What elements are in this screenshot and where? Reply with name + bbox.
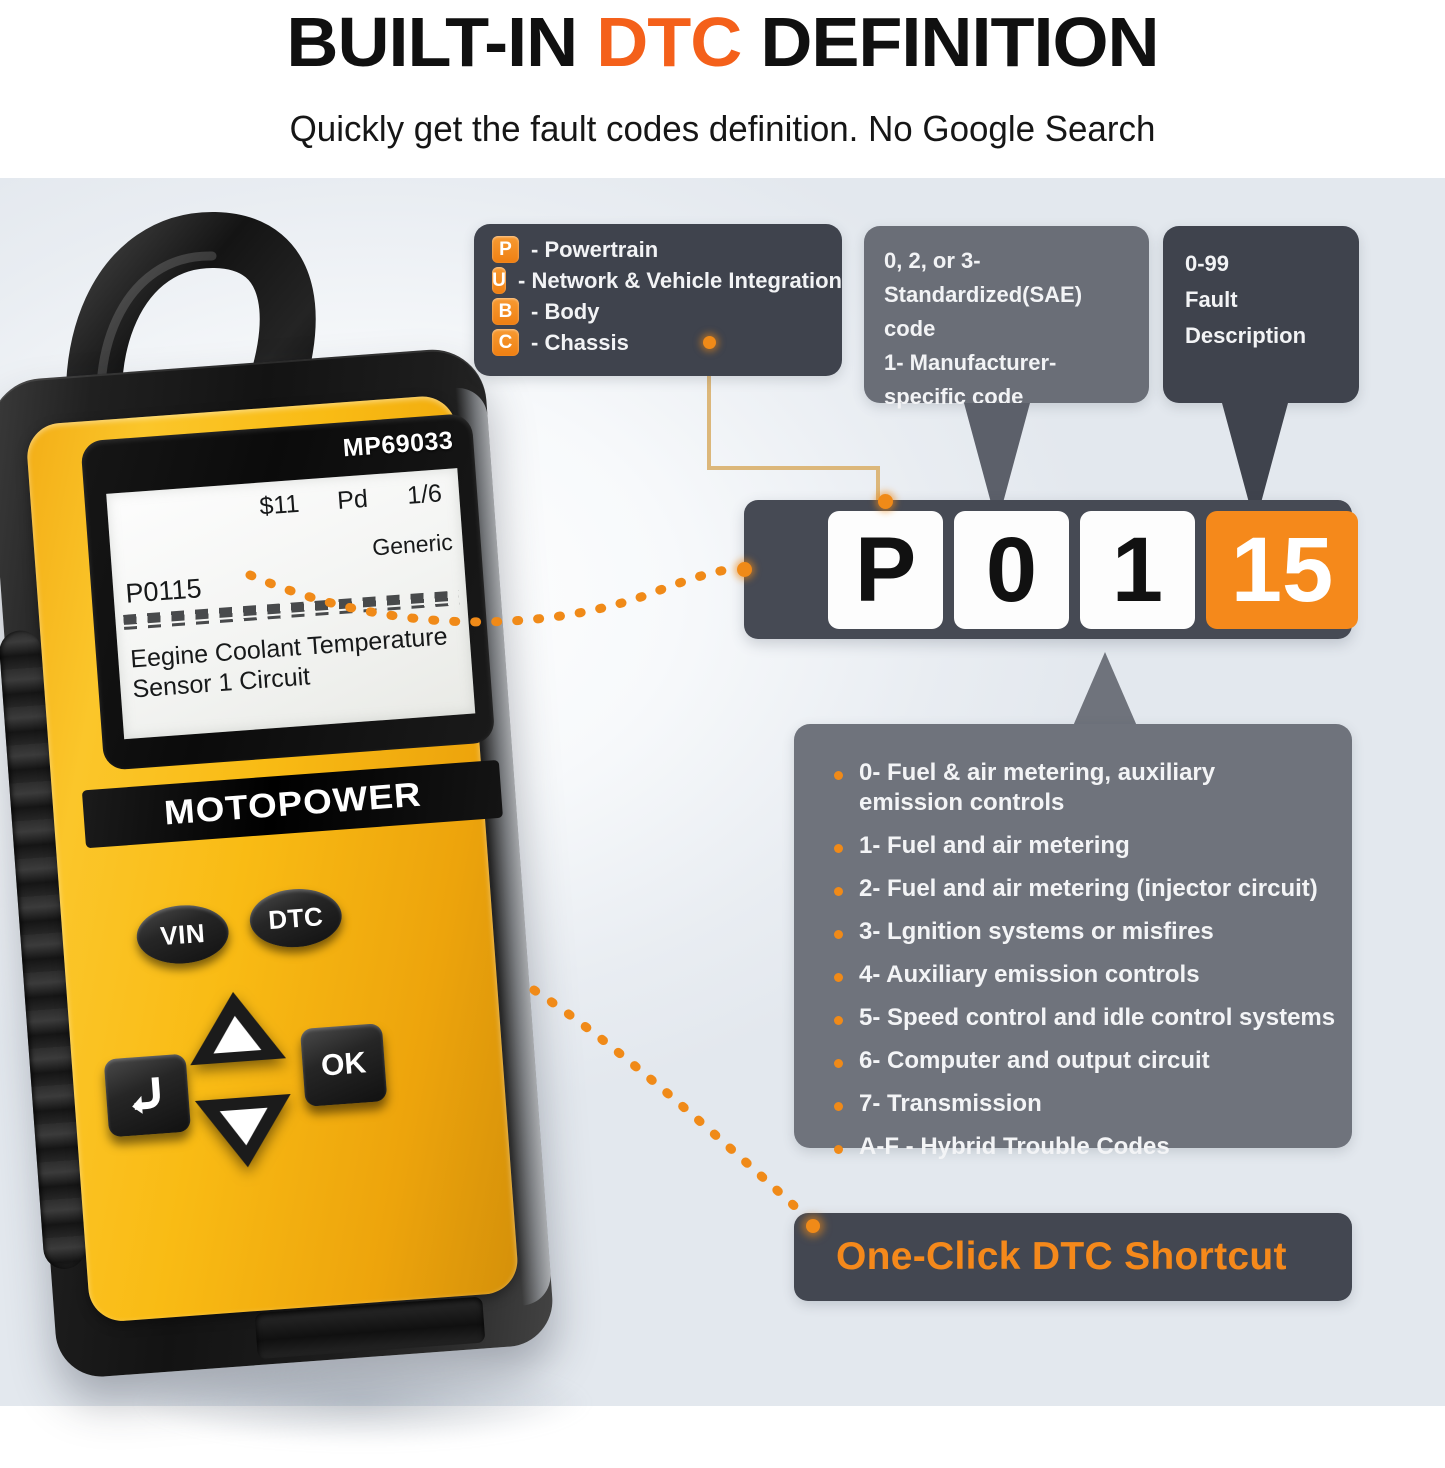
device-model-number: MP69033 [342,426,454,463]
badge-b-icon: B [492,298,519,325]
fault-line-3: Description [1185,318,1341,354]
lcd-dollar-value: $11 [259,490,301,522]
page-title: BUILT-IN DTC DEFINITION [0,2,1445,82]
code-display-anchor-dot [737,562,752,577]
back-arrow-icon [124,1074,171,1117]
dtc-button-face[interactable]: DTC [248,886,344,951]
bullet-icon [834,973,843,982]
list-item: 6- Computer and output circuit [834,1046,1342,1076]
sae-line-3: 1- Manufacturer- [884,346,1131,380]
title-part-pre: BUILT-IN [286,3,596,81]
list-item: 0- Fuel & air metering, auxiliary emissi… [834,758,1342,818]
vin-button-face[interactable]: VIN [135,902,231,967]
back-button-face[interactable] [104,1054,191,1138]
list-item: 1- Fuel and air metering [834,831,1342,861]
title-part-accent: DTC [596,3,741,81]
dtc-button[interactable]: DTC [248,886,344,951]
brand-name: MOTOPOWER [162,775,422,833]
code-tile-15: 15 [1206,511,1358,629]
up-arrow-icon [211,1014,262,1053]
badge-c-icon: C [492,329,519,356]
list-item-label: A-F - Hybrid Trouble Codes [859,1132,1170,1162]
subsystem-list-callout: 0- Fuel & air metering, auxiliary emissi… [794,724,1352,1148]
shortcut-anchor-dot [806,1219,820,1233]
list-item-label: 7- Transmission [859,1089,1042,1119]
title-part-post: DEFINITION [741,3,1158,81]
legend-item: P - Powertrain [492,234,842,265]
legend-item: U - Network & Vehicle Integration [492,265,842,296]
page-subtitle: Quickly get the fault codes definition. … [22,108,1424,150]
ok-button-face[interactable]: OK [300,1023,387,1107]
device-front-face: MP69033 $11 Pd 1/6 Generic P0115 Eegine … [25,394,520,1323]
dtc-shortcut-banner: One-Click DTC Shortcut [794,1213,1352,1301]
lcd-pd-flag: Pd [336,485,369,516]
list-item-label: 2- Fuel and air metering (injector circu… [859,874,1318,904]
legend-label-p: - Powertrain [531,237,658,263]
list-item: A-F - Hybrid Trouble Codes [834,1132,1342,1162]
list-item-label: 4- Auxiliary emission controls [859,960,1200,990]
legend-item: C - Chassis [492,327,842,358]
keypad: VIN DTC [101,882,524,1240]
list-item-label: 1- Fuel and air metering [859,831,1130,861]
brand-band: MOTOPOWER [82,760,503,848]
header: BUILT-IN DTC DEFINITION Quickly get the … [0,0,1445,178]
lcd-dtc-code: P0115 [124,573,202,609]
lcd-fault-description: Eegine Coolant Temperature Sensor 1 Circ… [129,620,463,704]
up-arrow-button[interactable] [185,988,286,1067]
legend-label-b: - Body [531,299,599,325]
lcd-generic-label: Generic [371,529,453,562]
list-item-label: 5- Speed control and idle control system… [859,1003,1335,1033]
vin-button[interactable]: VIN [135,902,231,967]
code-tiles: P 0 1 15 [828,511,1358,629]
infographic-root: BUILT-IN DTC DEFINITION Quickly get the … [0,0,1445,1406]
code-prefix-legend: P - Powertrain U - Network & Vehicle Int… [474,224,842,376]
badge-p-icon: P [492,236,519,263]
lcd-status-row: $11 Pd 1/6 [107,478,461,538]
sae-code-callout: 0, 2, or 3- Standardized(SAE) code 1- Ma… [864,226,1149,403]
dtc-code-display: P 0 1 15 [744,500,1352,639]
bullet-icon [834,1102,843,1111]
code-tile-1: 1 [1080,511,1195,629]
down-arrow-icon [220,1108,271,1147]
device-body: MP69033 $11 Pd 1/6 Generic P0115 Eegine … [0,344,578,1389]
sae-callout-text: 0, 2, or 3- Standardized(SAE) code 1- Ma… [864,226,1149,414]
sae-line-1: 0, 2, or 3- [884,244,1131,278]
bullet-icon [834,1016,843,1025]
back-button[interactable] [104,1054,191,1138]
sae-line-2: Standardized(SAE) code [884,278,1131,346]
bullet-icon [834,930,843,939]
subsystem-list: 0- Fuel & air metering, auxiliary emissi… [794,724,1352,1162]
fault-callout-text: 0-99 Fault Description [1163,226,1359,354]
bullet-icon [834,1059,843,1068]
down-arrow-button[interactable] [195,1094,296,1173]
code-tile-p: P [828,511,943,629]
subsystem-list-pointer [1073,652,1137,726]
legend-label-u: - Network & Vehicle Integration [518,268,842,294]
lcd-panel: MP69033 $11 Pd 1/6 Generic P0115 Eegine … [80,413,495,771]
code-tile-p-anchor-dot [878,494,893,509]
fault-line-1: 0-99 [1185,246,1341,282]
bullet-icon [834,771,843,780]
lcd-screen: $11 Pd 1/6 Generic P0115 Eegine Coolant … [106,468,475,739]
list-item-label: 0- Fuel & air metering, auxiliary emissi… [859,758,1215,818]
list-item: 4- Auxiliary emission controls [834,960,1342,990]
legend-label-c: - Chassis [531,330,629,356]
bullet-icon [834,887,843,896]
bullet-icon [834,844,843,853]
fault-description-callout: 0-99 Fault Description [1163,226,1359,403]
shortcut-label: One-Click DTC Shortcut [836,1235,1287,1279]
code-tile-0: 0 [954,511,1069,629]
list-item: 7- Transmission [834,1089,1342,1119]
bullet-icon [834,1145,843,1154]
list-item: 2- Fuel and air metering (injector circu… [834,874,1342,904]
ok-button[interactable]: OK [300,1023,387,1107]
legend-anchor-dot [703,336,716,349]
list-item: 3- Lgnition systems or misfires [834,917,1342,947]
list-item: 5- Speed control and idle control system… [834,1003,1342,1033]
list-item-label: 6- Computer and output circuit [859,1046,1210,1076]
list-item-label: 3- Lgnition systems or misfires [859,917,1214,947]
lcd-page-indicator: 1/6 [406,479,443,510]
badge-u-icon: U [492,267,506,294]
legend-item: B - Body [492,296,842,327]
fault-line-2: Fault [1185,282,1341,318]
